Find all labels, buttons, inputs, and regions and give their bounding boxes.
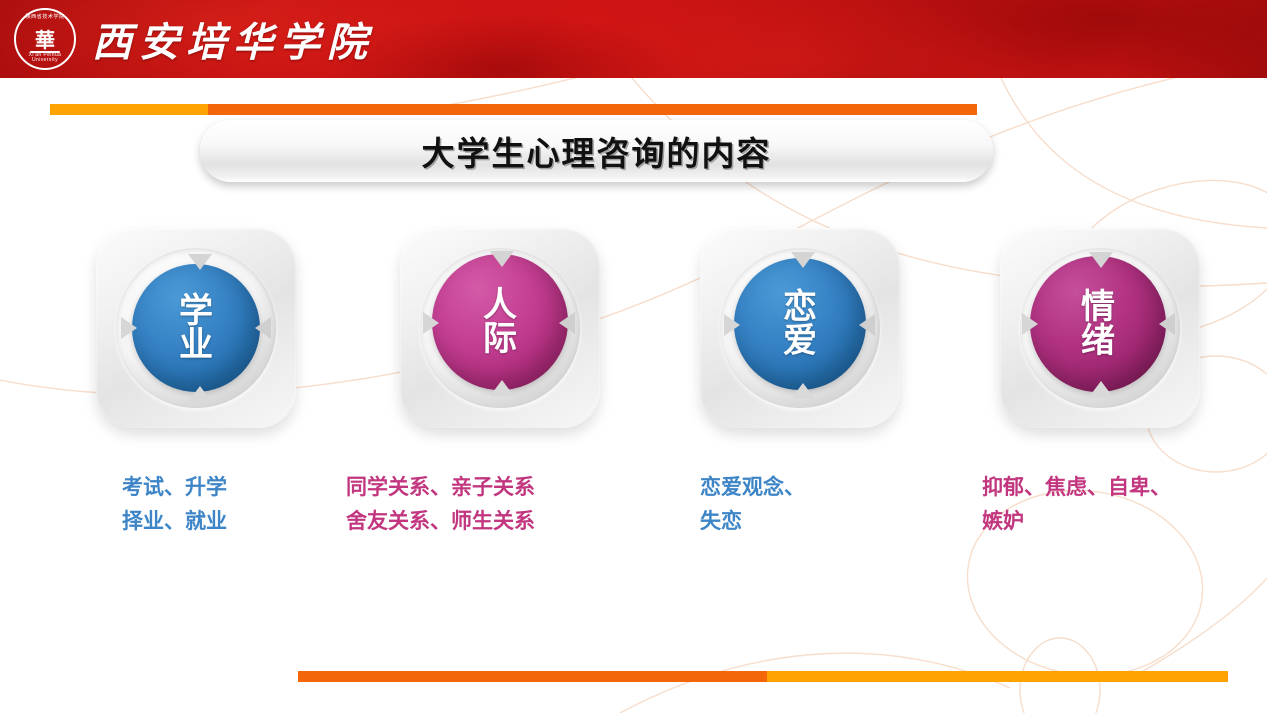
arrow-down-icon	[490, 251, 514, 267]
top-rule-right-segment	[208, 104, 977, 115]
caption-interpersonal: 同学关系、亲子关系 舍友关系、师生关系	[346, 470, 535, 538]
arrow-left-icon	[1022, 313, 1038, 335]
caption-academics: 考试、升学 择业、就业	[122, 470, 227, 538]
arrow-down-icon	[1089, 252, 1113, 268]
badge-disc: 情 绪	[1030, 256, 1166, 392]
seal-ring-text-top: 陕西省技术学院	[16, 15, 74, 20]
page-title: 大学生心理咨询的内容	[422, 127, 772, 175]
arrow-up-icon	[490, 380, 514, 396]
badge-academics[interactable]: 学 业	[96, 228, 296, 428]
badge-char-line1: 情	[1081, 290, 1115, 324]
bottom-rule-right-segment	[767, 671, 1228, 682]
seal-ring-text-bottom: Xi'an Peihua University	[16, 53, 74, 63]
badge-char-line2: 际	[483, 322, 517, 356]
bottom-rule-left-segment	[298, 671, 767, 682]
badge-char-line2: 绪	[1081, 324, 1115, 358]
caption-line-2: 择业、就业	[122, 504, 227, 538]
caption-row: 考试、升学 择业、就业 同学关系、亲子关系 舍友关系、师生关系 恋爱观念、 失恋…	[0, 470, 1267, 550]
caption-line-1: 抑郁、焦虑、自卑、	[982, 470, 1171, 504]
arrow-down-icon	[188, 254, 212, 270]
badge-disc: 人 际	[432, 254, 568, 390]
caption-emotions: 抑郁、焦虑、自卑、 嫉妒	[982, 470, 1171, 538]
university-seal-logo: 陕西省技术学院 華 Xi'an Peihua University	[14, 8, 76, 70]
arrow-up-icon	[188, 386, 212, 402]
badge-disc: 恋 爱	[734, 258, 866, 390]
arrow-right-icon	[859, 314, 875, 336]
badge-char-line2: 业	[179, 328, 213, 362]
arrow-left-icon	[724, 314, 740, 336]
arrow-left-icon	[423, 312, 439, 334]
caption-line-1: 同学关系、亲子关系	[346, 470, 535, 504]
arrow-left-icon	[121, 317, 137, 339]
arrow-up-icon	[791, 383, 815, 399]
top-rule-left-segment	[50, 104, 208, 115]
caption-line-1: 恋爱观念、	[700, 470, 805, 504]
badge-char-line1: 学	[179, 294, 213, 328]
arrow-right-icon	[559, 312, 575, 334]
badge-romance[interactable]: 恋 爱	[700, 228, 900, 428]
caption-line-2: 嫉妒	[982, 504, 1171, 538]
caption-line-1: 考试、升学	[122, 470, 227, 504]
caption-line-2: 舍友关系、师生关系	[346, 504, 535, 538]
caption-romance: 恋爱观念、 失恋	[700, 470, 805, 538]
badge-row: 学 业 人 际 恋 爱	[0, 228, 1267, 448]
slide-title-pill: 大学生心理咨询的内容	[200, 120, 993, 182]
seal-center-glyph: 華	[35, 30, 55, 50]
caption-line-2: 失恋	[700, 504, 805, 538]
badge-char-line1: 人	[483, 288, 517, 322]
bottom-accent-rule	[298, 671, 1228, 682]
slide-canvas: 陕西省技术学院 華 Xi'an Peihua University 西安培华学院…	[0, 0, 1267, 713]
badge-disc: 学 业	[132, 264, 260, 392]
arrow-right-icon	[1159, 313, 1175, 335]
arrow-right-icon	[255, 317, 271, 339]
badge-interpersonal[interactable]: 人 际	[400, 228, 600, 428]
badge-emotions[interactable]: 情 绪	[1000, 228, 1200, 428]
arrow-up-icon	[1089, 381, 1113, 397]
arrow-down-icon	[791, 252, 815, 268]
badge-char-line2: 爱	[783, 324, 817, 358]
header-banner: 陕西省技术学院 華 Xi'an Peihua University 西安培华学院	[0, 0, 1267, 78]
badge-char-line1: 恋	[783, 290, 817, 324]
institution-name: 西安培华学院	[92, 10, 374, 68]
top-accent-rule	[50, 104, 977, 115]
